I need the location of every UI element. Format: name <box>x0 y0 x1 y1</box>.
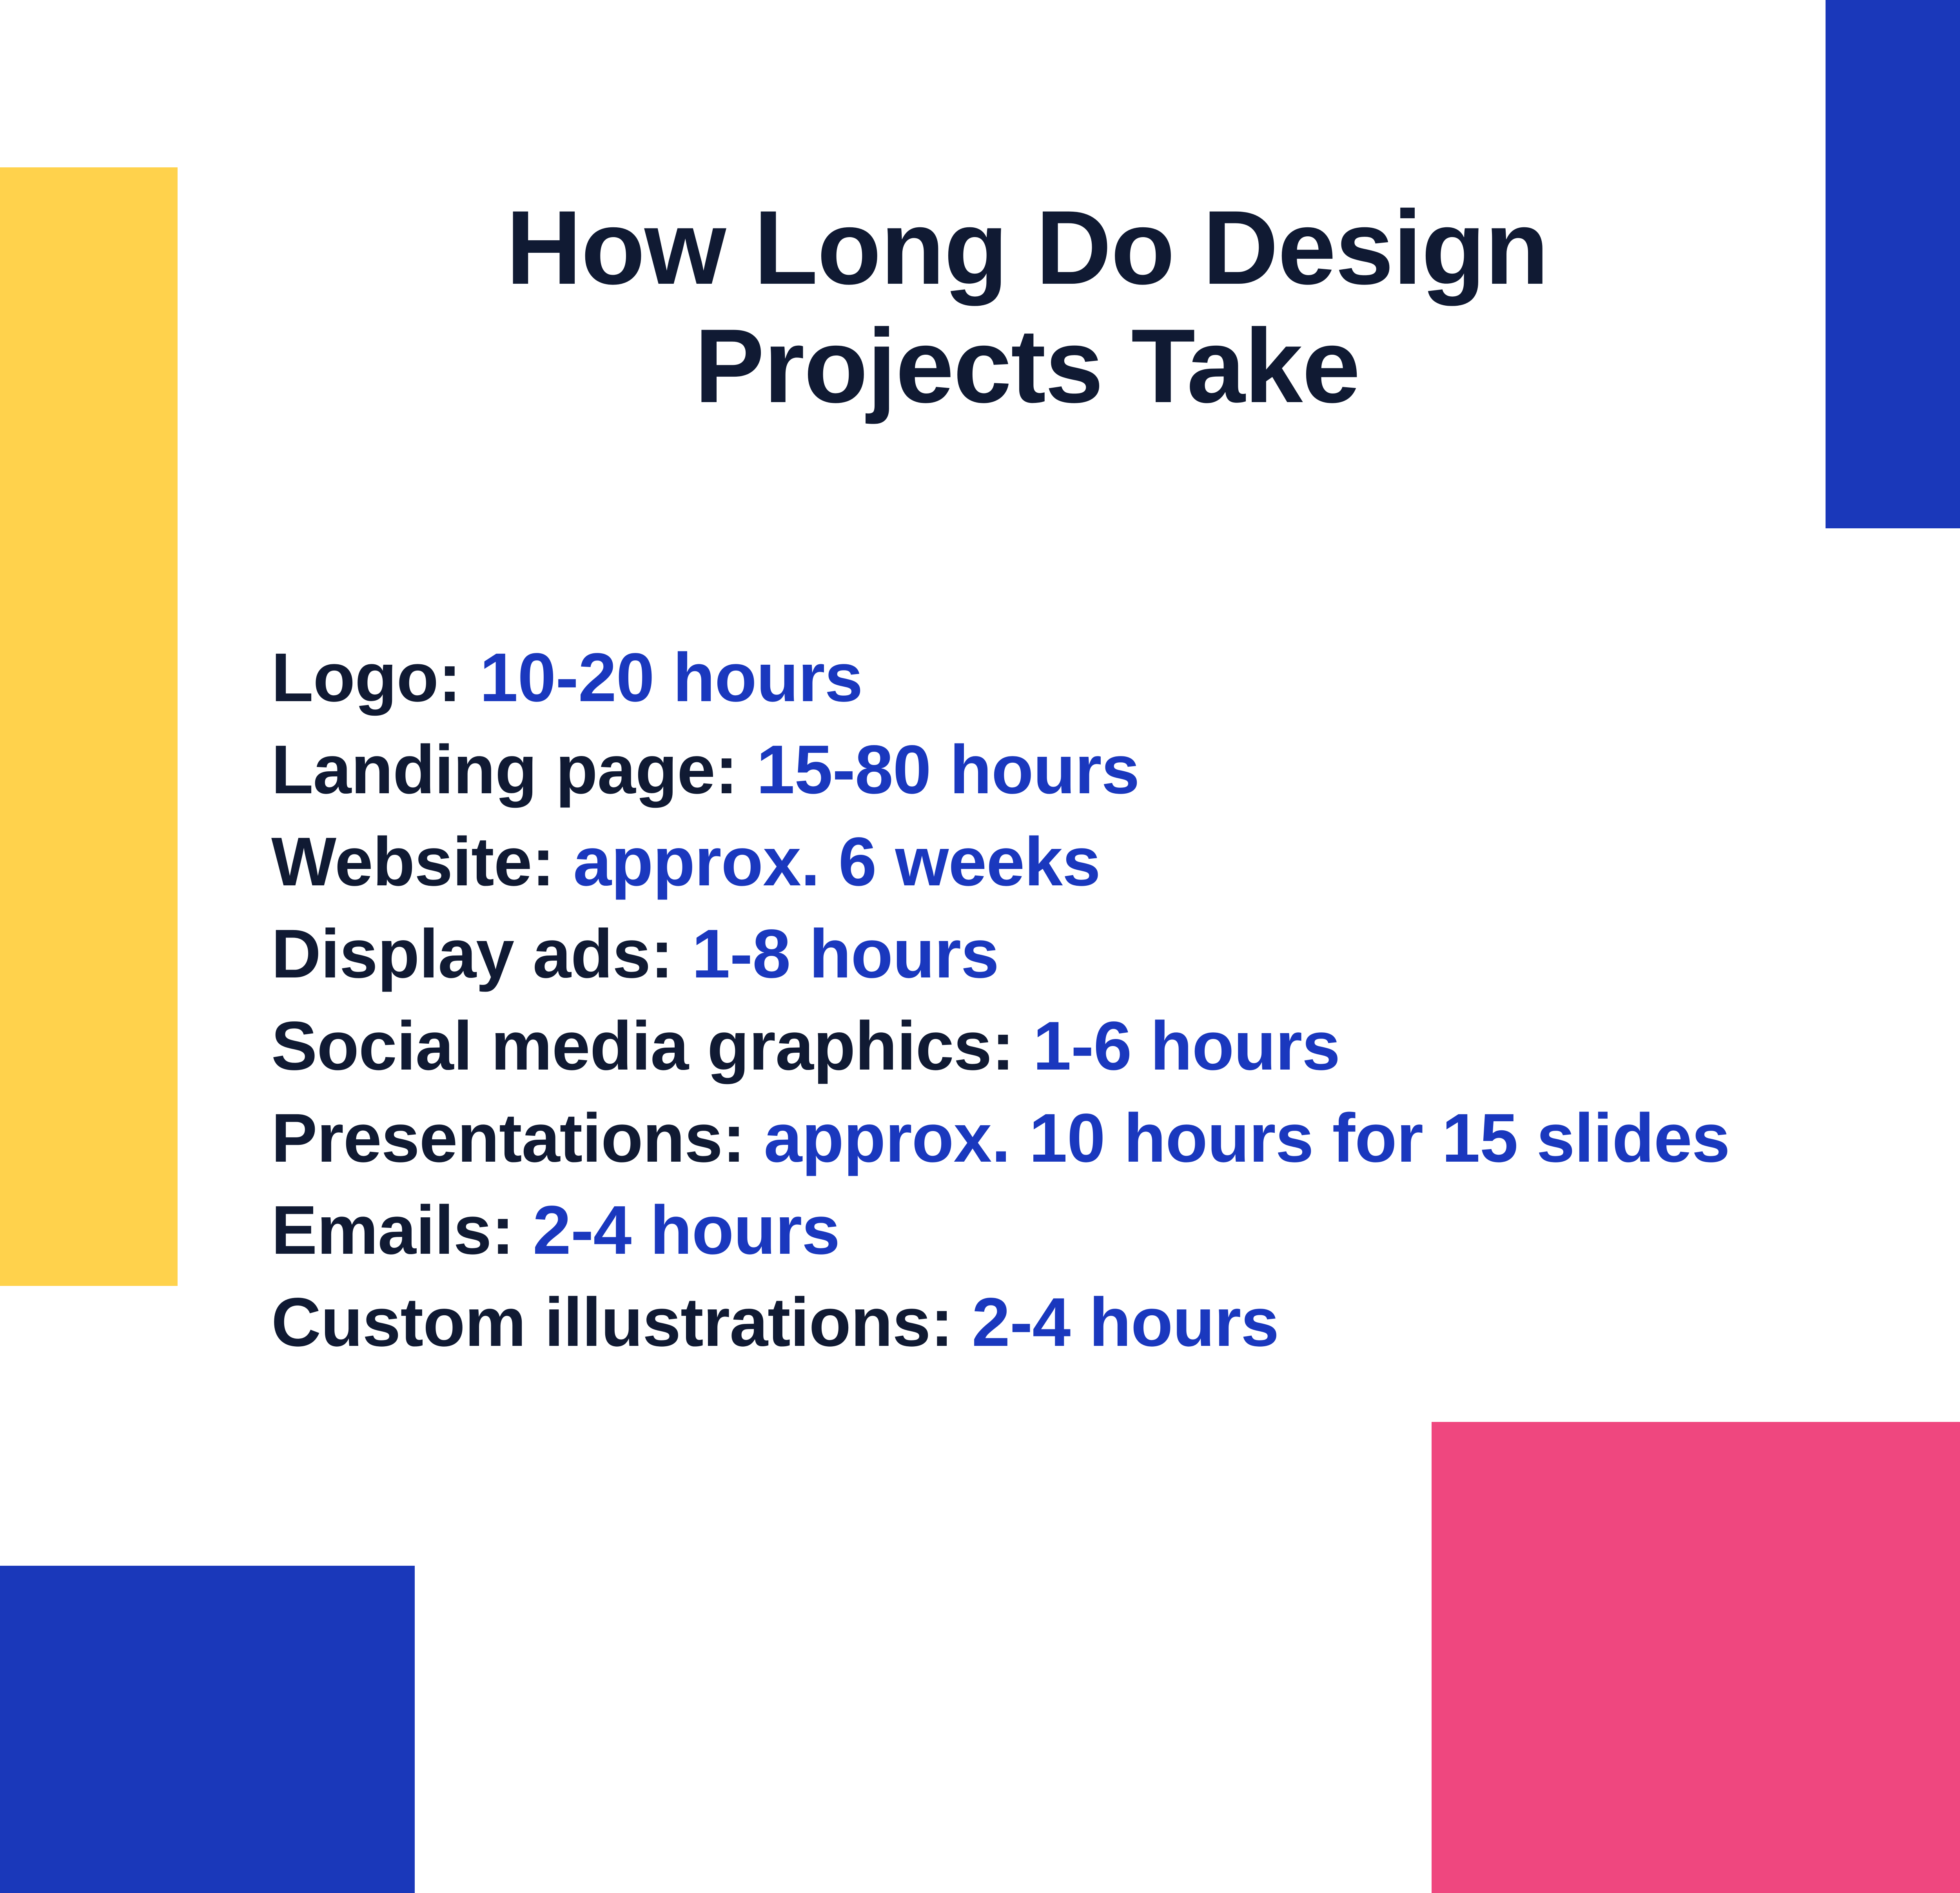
list-item-value: 10-20 hours <box>480 639 863 716</box>
list-item-label: Logo: <box>271 639 461 716</box>
list-item-value: 1-6 hours <box>1033 1008 1340 1084</box>
list-item: Landing page: 15-80 hours <box>271 724 1960 816</box>
list-item: Social media graphics: 1-6 hours <box>271 1000 1960 1092</box>
list-item-value: approx. 10 hours for 15 slides <box>764 1100 1730 1177</box>
list-item-value: 15-80 hours <box>757 731 1140 808</box>
list-item-label: Presentations: <box>271 1100 745 1177</box>
page-title-line-1: How Long Do Design <box>212 188 1842 307</box>
list-item-label: Custom illustrations: <box>271 1284 953 1361</box>
list-item-value: 1-8 hours <box>692 916 999 992</box>
blue-bottom-left-block-decoration <box>0 1566 415 1893</box>
list-item-label: Social media graphics: <box>271 1008 1014 1084</box>
list-item-value: 2-4 hours <box>533 1192 840 1269</box>
page-title-line-2: Projects Take <box>212 306 1842 425</box>
list-item-value: approx. 6 weeks <box>573 823 1100 900</box>
list-item: Emails: 2-4 hours <box>271 1184 1960 1277</box>
blue-top-right-block-decoration <box>1826 0 1960 528</box>
infographic-canvas: How Long Do Design Projects Take Logo: 1… <box>0 0 1960 1893</box>
list-item-label: Landing page: <box>271 731 738 808</box>
list-item: Logo: 10-20 hours <box>271 632 1960 724</box>
list-item: Display ads: 1-8 hours <box>271 908 1960 1000</box>
list-item: Website: approx. 6 weeks <box>271 816 1960 908</box>
list-item-label: Emails: <box>271 1192 514 1269</box>
list-item: Custom illustrations: 2-4 hours <box>271 1277 1960 1369</box>
yellow-left-bar-decoration <box>0 167 178 1286</box>
page-title: How Long Do Design Projects Take <box>212 188 1842 426</box>
list-item-label: Website: <box>271 823 554 900</box>
list-item: Presentations: approx. 10 hours for 15 s… <box>271 1092 1960 1184</box>
list-item-value: 2-4 hours <box>972 1284 1279 1361</box>
pink-bottom-right-block-decoration <box>1432 1422 1960 1893</box>
list-item-label: Display ads: <box>271 916 673 992</box>
project-duration-list: Logo: 10-20 hours Landing page: 15-80 ho… <box>271 632 1960 1369</box>
